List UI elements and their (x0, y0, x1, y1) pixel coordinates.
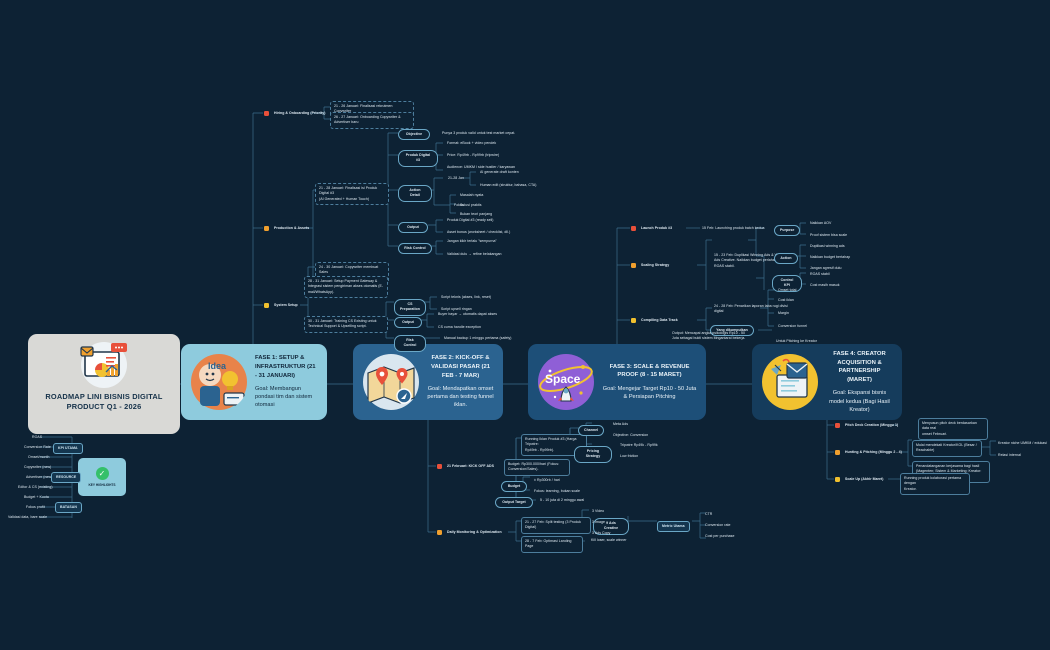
space-rocket-icon: Space (537, 353, 595, 411)
branch-system-label: System Setup (272, 302, 300, 309)
system-output-label[interactable]: Output (394, 317, 422, 328)
root-node[interactable]: ROADMAP LINI BISNIS DIGITAL PRODUCT Q1 -… (28, 334, 180, 434)
scaling-action-0: Duplikasi winning ads (808, 243, 847, 250)
branch-bullet-scaling (631, 263, 636, 268)
monitoring-task-0[interactable]: 21 - 27 Feb: Split testing (3 Produk Dig… (521, 517, 591, 534)
production-risk-label[interactable]: Risk Control (398, 243, 432, 254)
legend-axis-3: Copywriter (new) (22, 464, 53, 471)
phase-2-goal: Goal: Mendapatkan omset pertama dan test… (427, 385, 494, 409)
hunting-note-0[interactable]: Mulai mendekati Kreator/KOL (Besar / Rea… (912, 440, 982, 457)
branch-pitch-deck-label: Pitch Deck Creation (Minggu 1) (843, 422, 900, 429)
phase-4-title: FASE 4: CREATOR ACQUISITION & PARTNERSHI… (826, 350, 893, 384)
page-title: ROADMAP LINI BISNIS DIGITAL PRODUCT Q1 -… (28, 392, 180, 412)
scaling-purpose-label[interactable]: Purpose (774, 225, 800, 236)
fokus-item-1: Solusi praktis (458, 202, 484, 209)
kpi-item-0: ROAS stabil (808, 271, 832, 278)
metric-item-2: Cost per purchase (703, 533, 736, 540)
sys-output-0: Buyer bayar → otomatis dapat akses (436, 311, 499, 318)
branch-scaling-label: Scaling Strategy (639, 262, 671, 269)
branch-hunting-label: Hunting & Pitching (Minggu 2 - 4) (843, 449, 904, 456)
connector-lines (0, 0, 1050, 650)
legend-group-resource: RESOURCE (51, 472, 81, 483)
launch-task: 15 Feb: Launching produk batch kedua (700, 225, 767, 232)
branch-kickoff-label: 21 Februari: KICK OFF ADS (445, 463, 496, 470)
monitoring-task-1[interactable]: 28 - 7 Feb: Optimasi Landing Page (521, 536, 583, 553)
phase-4-goal: Goal: Ekspansi bisnis model kedua (Bagi … (826, 389, 893, 413)
legend-axis-6: Budget + Kuota (22, 494, 51, 501)
production-objective-label[interactable]: Objective (398, 129, 430, 140)
prod-risk-1: Validasi dulu → refine belakangan (445, 251, 504, 258)
branch-bullet-monitoring (437, 530, 442, 535)
phase-1-title: FASE 1: SETUP & INFRASTRUKTUR (21 - 31 J… (255, 354, 318, 380)
budget-item-0: ± Rp300rb / hari (532, 477, 562, 484)
channel-item-1: Objective: Conversion (611, 432, 650, 439)
legend-axis-0: ROAS (30, 434, 44, 441)
output-target-label[interactable]: Output Target (495, 497, 533, 508)
envelope-letter-icon (761, 353, 819, 411)
channel-item-0: Meta Ads (611, 421, 630, 428)
branch-production-label: Production & Assets (272, 225, 311, 232)
cs-item-0: Script teknis (akses, link, reset) (439, 294, 493, 301)
scaling-action-label[interactable]: Action (774, 253, 798, 264)
phase-card-3[interactable]: Space FASE 3: SCALE & REVENUE PROOF (8 -… (528, 344, 706, 420)
output-target-item: 5 - 10 juta di 2 minggu awal (538, 497, 586, 504)
creative-item-0: 3 Video (590, 508, 606, 515)
production-task[interactable]: 21 - 28 Januari: Finalisasi isi Produk D… (315, 183, 389, 205)
legend-axis-8: Validasi data, bare scale (6, 514, 49, 521)
action-date: 21-28 Jan (446, 175, 466, 182)
hiring-task-1[interactable]: 26 - 27 Januari: Onboarding Copywriter &… (330, 112, 414, 129)
phase-3-title: FASE 3: SCALE & REVENUE PROOF (8 - 15 MA… (602, 363, 697, 380)
branch-bullet-pitch-deck (835, 423, 840, 428)
prod-risk-0: Jangan kikir terlalu "sempurna" (445, 238, 499, 245)
legend-axis-2: Omset/month (26, 454, 52, 461)
legend-group-batasan: BATASAN (55, 502, 82, 513)
legend-axis-4: Advertiser (new) (24, 474, 54, 481)
cs-preparation-label[interactable]: CS Preparation (394, 299, 426, 316)
legend-group-kpi: KPI UTAMA (53, 443, 83, 454)
production-output-label[interactable]: Output (398, 222, 428, 233)
sys-risk-0: Manual backup 1 minggu pertama (safety) (442, 335, 514, 342)
purpose-item-1: Proof sistem bisa scale (808, 232, 849, 239)
branch-bullet-production (264, 226, 269, 231)
pricing-strategy-label[interactable]: Pricing Strategy (574, 446, 612, 463)
branch-bullet-compiling (631, 318, 636, 323)
svg-text:Space: Space (545, 372, 581, 386)
scale-note[interactable]: Running produk kolaborasi pertama dengan… (900, 473, 970, 495)
phase-card-1[interactable]: Idea FASE 1: SETUP & INFRASTRUKTUR (21 -… (181, 344, 327, 420)
branch-monitoring-label: Daily Monitoring & Optimization (445, 529, 504, 536)
phase-card-2[interactable]: FASE 2: KICK-OFF & VALIDASI PASAR (21 FE… (353, 344, 503, 420)
compiling-note: Untuk Pitching ke Kreator (774, 338, 819, 345)
channel-label[interactable]: Channel (578, 425, 604, 436)
phase-card-4[interactable]: FASE 4: CREATOR ACQUISITION & PARTNERSHI… (752, 344, 902, 420)
legend-label: KEY HIGHLIGHTS (88, 483, 115, 487)
branch-bullet-launch (631, 226, 636, 231)
purpose-item-0: Naikkan AOV (808, 220, 833, 227)
branch-bullet-kickoff (437, 464, 442, 469)
svg-text:Idea: Idea (208, 361, 227, 371)
phase-3-goal: Goal: Mengejar Target Rp10 - 50 Juta & P… (602, 385, 697, 401)
branch-bullet-hiring (264, 111, 269, 116)
fokus-item-0: Masalah nyata (458, 192, 485, 199)
system-task-1[interactable]: 28 - 31 Januari: Setup Payment Gateway &… (304, 276, 388, 298)
metric-item-1: Conversion rate (703, 522, 732, 529)
compiling-output: Output: Mencapai angka psikologis Rp10 -… (670, 330, 747, 343)
phase-2-title: FASE 2: KICK-OFF & VALIDASI PASAR (21 FE… (427, 354, 494, 380)
pricing-item-1: Low friction (618, 453, 640, 460)
scaling-action-1: Naikkan budget bertahap (808, 254, 852, 261)
collected-item-2: Margin (776, 310, 791, 317)
production-action-label[interactable]: Action Detail (398, 185, 432, 202)
branch-hiring-label: Hiring & Onboarding (Priority) (272, 110, 327, 117)
key-highlights-legend[interactable]: ✓ KEY HIGHLIGHTS (78, 458, 126, 496)
action-date-item-1: Human edit (struktur, bahasa, CTA) (478, 182, 539, 189)
monitoring-note-1: Kill loser, scale winner (589, 537, 629, 544)
branch-launch-label: Launch Produk #3 (639, 225, 674, 232)
branch-bullet-scale-up (835, 477, 840, 482)
kpi-item-1: Cost masih masuk (808, 282, 842, 289)
branch-scale-up-label: Scale Up (Akhir Maret) (843, 476, 885, 483)
creative-item-1: 3 Image (590, 519, 607, 526)
collected-item-3: Conversion funnel (776, 323, 809, 330)
action-date-item-0: AI generate draft konten (478, 169, 521, 176)
idea-lightbulb-icon: Idea (190, 353, 248, 411)
system-task-2[interactable]: 30 - 31 Januari: Training CS Existing un… (304, 316, 388, 333)
legend-axis-7: Fokus profit (24, 504, 47, 511)
hunting-sub-1: Relasi internal (996, 452, 1023, 459)
produk-item-1: Price: Rp49rb - Rp99rb (tripwire) (445, 152, 501, 159)
budget-label[interactable]: Budget (501, 481, 527, 492)
kickoff-note-1[interactable]: Budget: Rp300.000/hari (Fokus: Conversio… (504, 459, 570, 476)
production-objective-value: Punya 3 produk valid untuk test market c… (440, 130, 517, 137)
prod-output-1: Asset bonus (worksheet / checklist, dll.… (445, 229, 512, 236)
pitch-note[interactable]: Menyusun pitch deck berdasarkan data rea… (918, 418, 988, 440)
production-produk-label[interactable]: Produk Digital #3 (398, 150, 438, 167)
pricing-item-0: Tripwire Rp49k - Rp99k (618, 442, 660, 449)
branch-bullet-system (264, 303, 269, 308)
prod-output-0: Produk Digital #3 (ready sell) (445, 217, 495, 224)
branch-bullet-hunting (835, 450, 840, 455)
metric-item-0: CTR (703, 511, 714, 518)
check-icon: ✓ (96, 467, 109, 480)
hunting-sub-0: Kreator niche UMKM / edukasi (996, 440, 1049, 447)
system-risk-label[interactable]: Risk Control (394, 335, 426, 352)
legend-axis-5: Editor & CS (existing) (16, 484, 55, 491)
mindmap-canvas: ROADMAP LINI BISNIS DIGITAL PRODUCT Q1 -… (0, 0, 1050, 650)
sys-output-1: CS cuma handle exception (436, 324, 483, 331)
map-pin-icon (362, 353, 420, 411)
phase-1-goal: Goal: Membangun pondasi tim dan sistem o… (255, 385, 318, 409)
branch-compiling-label: Compiling Data Track (639, 317, 680, 324)
collected-item-0: Omset total (776, 287, 798, 294)
collected-item-1: Cost iklan (776, 297, 796, 304)
budget-item-1: Fokus: learning, bukan scale (532, 488, 582, 495)
legend-axis-1: Conversion Rate (22, 444, 53, 451)
produk-item-0: Format: eBook + video pendek (445, 140, 498, 147)
metric-utama-chip[interactable]: Metric Utama (657, 521, 690, 532)
chart-presentation-icon (73, 341, 135, 389)
